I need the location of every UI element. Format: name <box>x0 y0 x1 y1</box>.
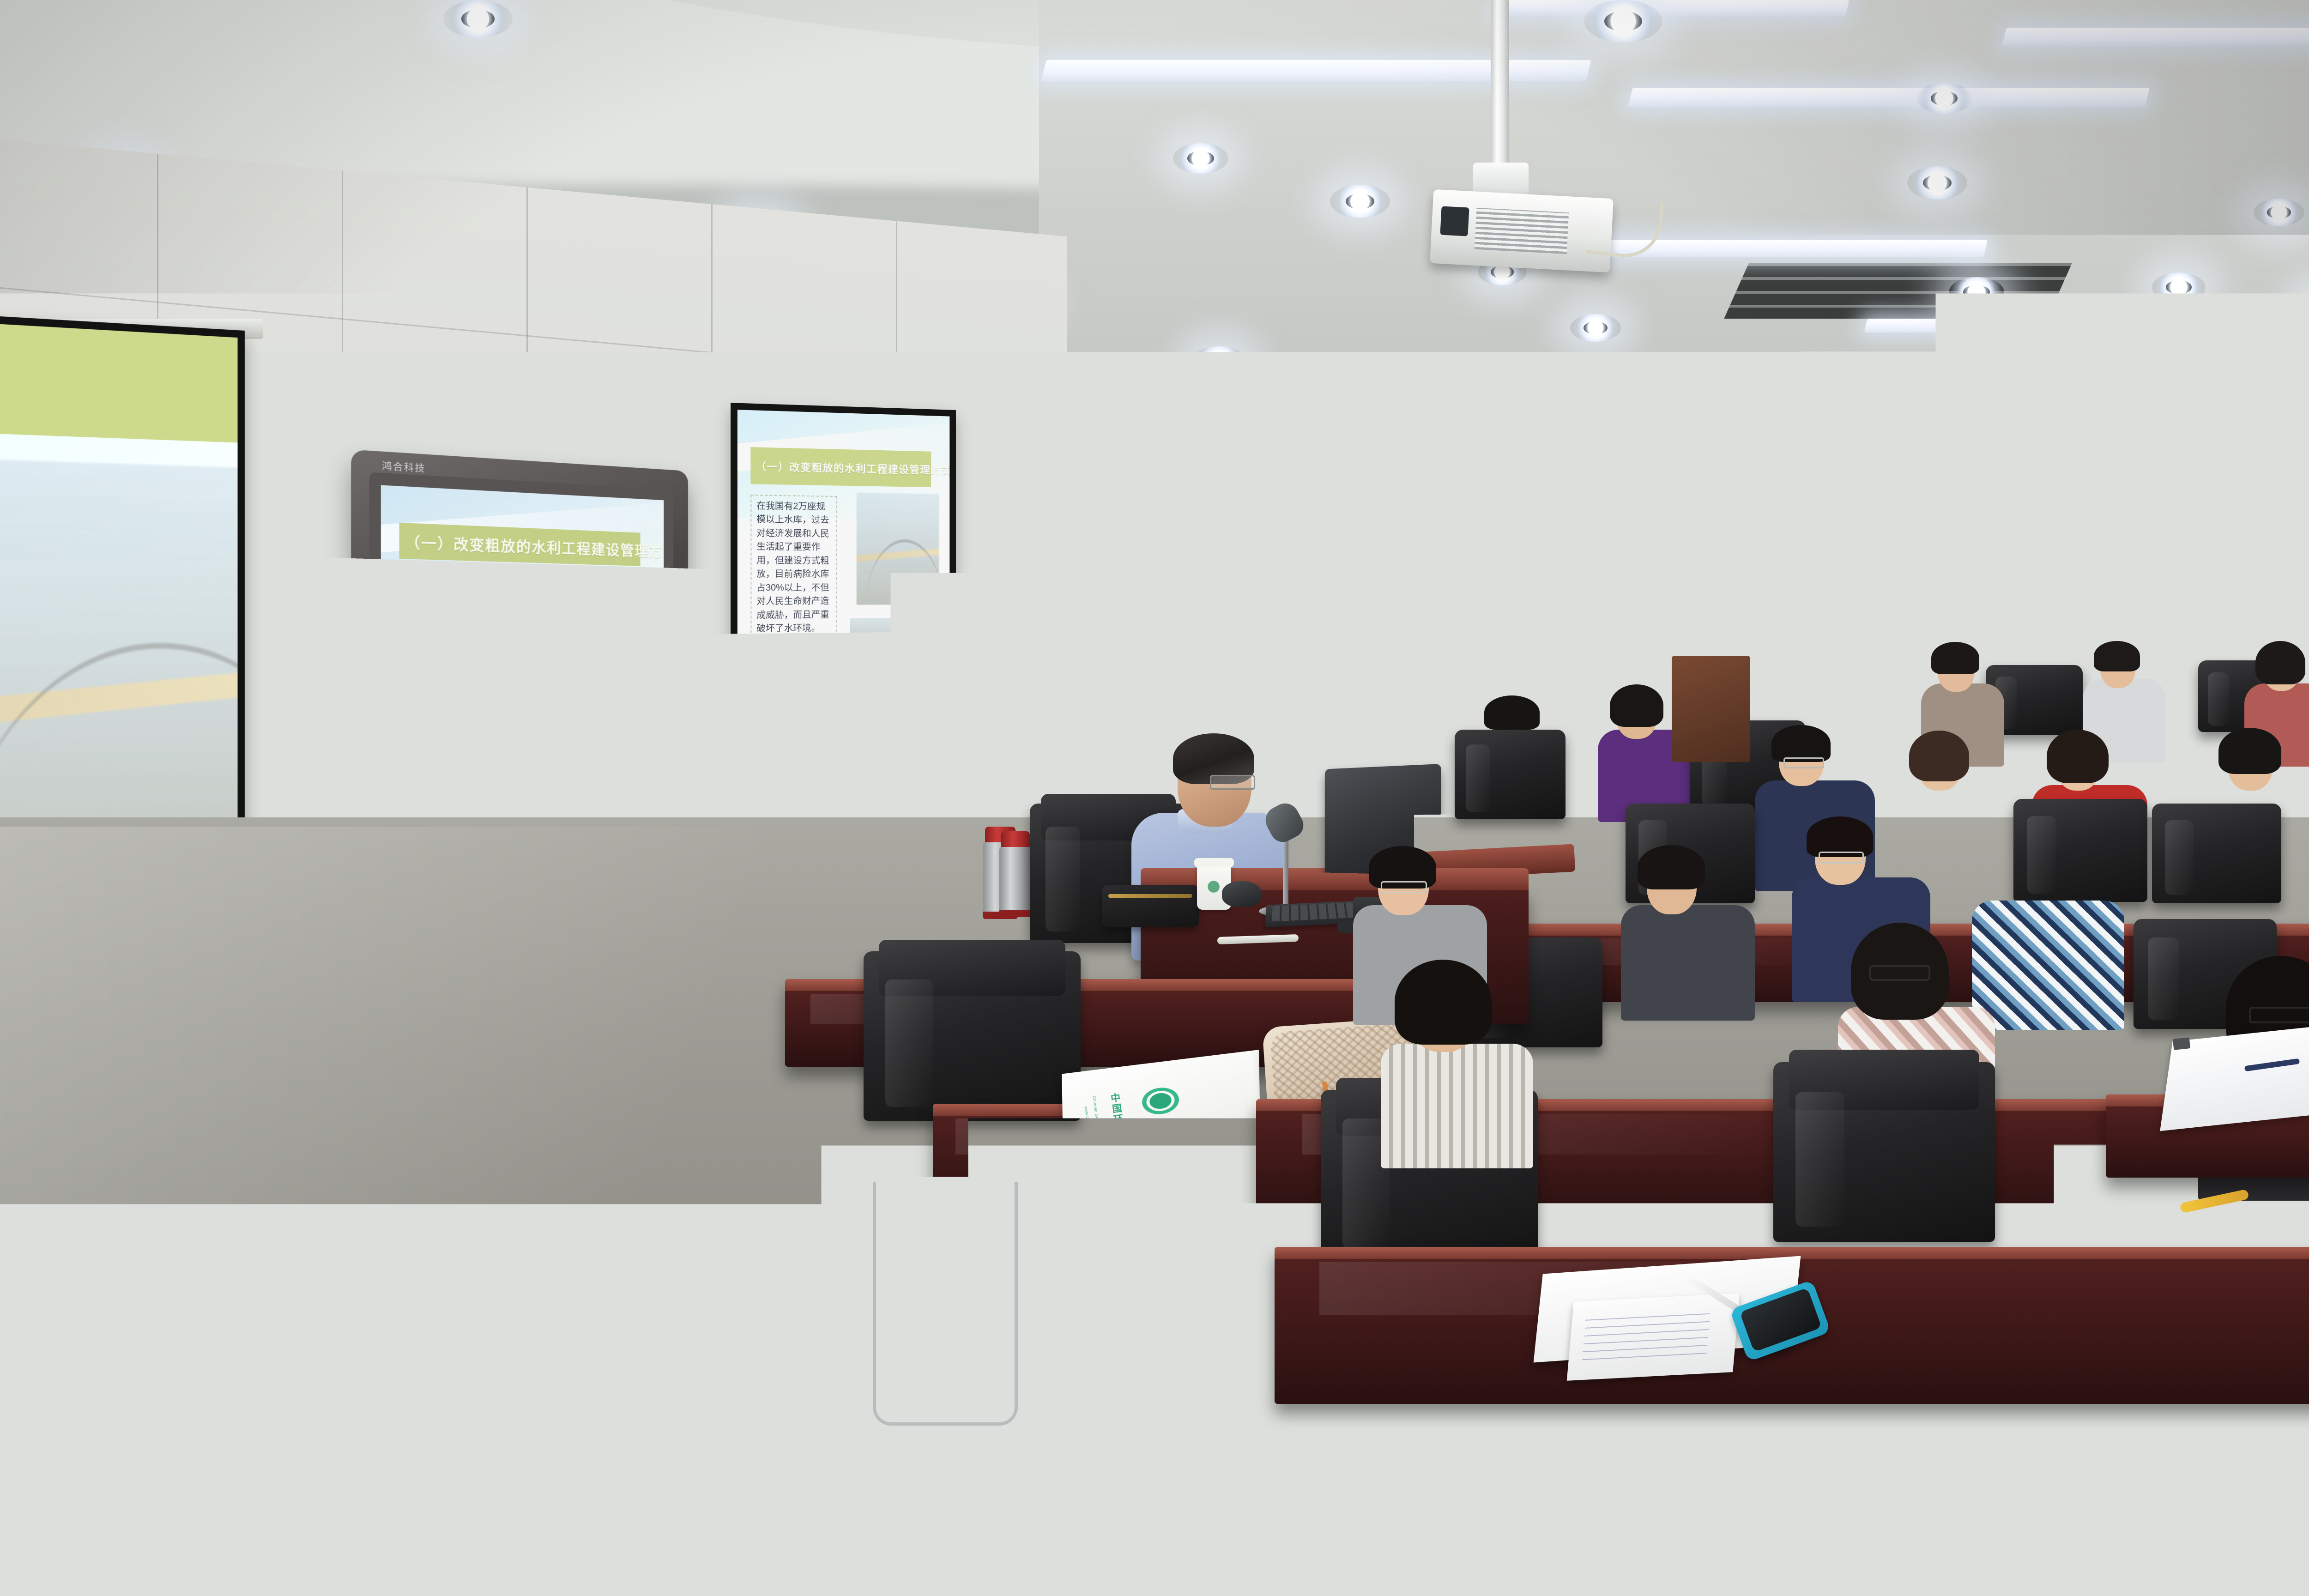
wall-projector-plate <box>485 366 560 433</box>
tote-bag-logo <box>1136 1082 1185 1120</box>
slide-paragraph: 第一，要除险； <box>756 656 831 671</box>
audience-hair <box>1798 640 1846 671</box>
slide-paragraph: 科学的工程管理： <box>405 766 512 788</box>
slide-photo-dam <box>534 689 659 804</box>
audience-hair <box>2218 728 2281 774</box>
projection-screen-right: （一）改变粗放的水利工程建设管理方式，修复水环境 在我国有2万座规模以上水库，过… <box>731 403 956 755</box>
audience-hair <box>1885 592 1926 621</box>
whiteboard-display[interactable]: （一）改变粗放的水利工程建设管理方式，修复水环境 在我国有2万座规模以上水库，过… <box>381 485 664 818</box>
audience-hair <box>1909 731 1969 781</box>
slide-photo-dam-gates <box>856 634 940 671</box>
chair-highlight <box>1795 1092 1844 1227</box>
eyeglasses-icon <box>2249 1007 2309 1023</box>
computer-mouse[interactable] <box>1222 881 1262 907</box>
window-blind-upper[interactable] <box>1808 360 2309 405</box>
projector-vents <box>1475 208 1569 254</box>
coffee-cup-lid <box>1194 858 1234 867</box>
audience-hair <box>2255 641 2305 684</box>
audience-hair <box>1807 816 1873 857</box>
recessed-downlight <box>1191 346 1247 377</box>
slide-photo-reservoir <box>543 570 651 677</box>
chair-highlight <box>1046 827 1080 931</box>
audience-hair <box>2094 641 2140 671</box>
thermos-flask[interactable] <box>999 831 1032 917</box>
slide-photo-dam-gates <box>542 704 651 740</box>
slide-paragraph: 第一，要除险； <box>405 789 512 813</box>
wooden-side-chair[interactable] <box>1672 656 1750 762</box>
thermos-body <box>999 847 1032 917</box>
eyeglasses-icon <box>1819 852 1864 864</box>
slide-body: 在我国有2万座规模以上水库，过去对经济发展和人民生活起了重要作用，但建设方式粗放… <box>399 569 518 791</box>
slide-photo-reservoir <box>856 493 939 605</box>
chair-highlight <box>885 979 933 1106</box>
foreground-person-striped <box>1381 1044 1533 1168</box>
slide-paragraph: 第二，要建立整治改善水库、修复断流的水环境工程。 <box>756 673 831 716</box>
bottom-left-chair[interactable] <box>1515 1422 1801 1596</box>
whiteboard-vendor-mark: 鸿合科技 <box>382 459 426 475</box>
foreground-hair <box>1395 960 1492 1045</box>
audience-hair <box>2054 577 2102 622</box>
whiteboard-bezel: （一）改变粗放的水利工程建设管理方式，修复水环境 在我国有2万座规模以上水库，过… <box>369 472 674 831</box>
slide-page-number: 20 <box>652 794 659 802</box>
slide-body: 在我国有2万座规模以上水库，过去对经济发展和人民生活起了重要作用，但建设方式粗放… <box>750 495 837 720</box>
ceiling-light-tube <box>1494 0 1850 17</box>
pencil-pouch[interactable] <box>1102 885 1199 927</box>
audience-hair <box>1484 695 1540 730</box>
eyeglasses-icon <box>1783 757 1824 768</box>
eyeglasses-icon <box>2004 873 2050 885</box>
recessed-downlight <box>1173 143 1228 174</box>
notebook-handwriting <box>1582 1308 1711 1360</box>
paper-binder-clip <box>2173 1037 2190 1050</box>
ceiling-light-tube <box>1628 88 2150 107</box>
tote-bag[interactable] <box>1062 1050 1261 1199</box>
slide-title: （一）改变粗放的水利工程建设管理方式，修复水环境 <box>750 458 949 478</box>
recessed-downlight <box>2254 199 2304 226</box>
ceiling-light-tube <box>1864 319 2190 332</box>
ceiling-flat-right <box>1039 0 2309 360</box>
slide-photo-dam-spillway <box>534 741 659 804</box>
projector-mount-pole <box>1491 0 1509 171</box>
recessed-downlight <box>1584 0 1662 42</box>
recessed-downlight <box>1949 277 2004 308</box>
slide-paragraph: 科学的工程管理： <box>756 639 831 653</box>
slide-paragraph: 在我国有2万座规模以上水库，过去对经济发展和人民生活起了重要作用，但建设方式粗放… <box>756 499 831 636</box>
audience-hair <box>1771 725 1831 762</box>
thermos-foot <box>999 910 1032 917</box>
foreground-hair <box>1638 845 1705 889</box>
eyeglasses-icon <box>1381 881 1427 893</box>
audience-hair <box>2047 730 2109 783</box>
projector-lens-icon <box>1440 206 1469 236</box>
recessed-downlight <box>1330 185 1390 218</box>
pouch-zipper <box>1108 894 1192 898</box>
chair-leg <box>873 1182 1018 1426</box>
foreground-person-dark-shirt <box>1621 905 1755 1021</box>
interactive-whiteboard[interactable]: 鸿合科技 HiteVision （一）改变粗放的水利工程建设管理方式，修复水环境… <box>351 449 688 862</box>
recessed-downlight <box>1916 83 1972 114</box>
presenter-eyeglasses-icon <box>1210 775 1255 790</box>
slide-right: （一）改变粗放的水利工程建设管理方式，修复水环境 在我国有2万座规模以上水库，过… <box>737 410 949 747</box>
slide-paragraph: 在我国有2万座规模以上水库，过去对经济发展和人民生活起了重要作用，但建设方式粗放… <box>405 574 512 764</box>
slide-whiteboard: （一）改变粗放的水利工程建设管理方式，修复水环境 在我国有2万座规模以上水库，过… <box>381 485 664 818</box>
audience-chair[interactable] <box>1455 730 1566 854</box>
chair-headrest <box>1535 1413 1781 1457</box>
slide-title: （一）改变粗放的水利工程建设管理方式，修复水环境 <box>399 530 664 564</box>
dome-speaker-icon <box>1293 418 1353 470</box>
coffee-cup-logo <box>1203 877 1224 897</box>
audience-hair <box>1967 586 2012 626</box>
recessed-downlight <box>443 0 513 38</box>
slide-photo-dam-spillway <box>850 674 945 738</box>
audience-hair <box>1931 642 1979 674</box>
slide-photo-dam <box>850 617 945 737</box>
slide-title-bar: （一）改变粗放的水利工程建设管理方式，修复水环境 <box>750 447 931 487</box>
slide-page-number: 20 <box>939 731 945 738</box>
audience-hair <box>1610 684 1663 727</box>
ceiling-light-tube <box>2002 28 2309 46</box>
recessed-downlight <box>1570 314 1621 342</box>
eyeglasses-icon <box>1869 965 1930 981</box>
recessed-downlight <box>2152 272 2206 302</box>
recessed-downlight <box>1907 166 1967 199</box>
ceiling-vent-right <box>1724 263 2072 319</box>
wall-projector-brand-label: HITACHI <box>674 408 708 435</box>
lecture-hall-photo: HITACHI （一）改变粗放的水利工程建设管理方式，修复水环境 在我国有2万座… <box>0 0 2309 1596</box>
audience-hair <box>2168 584 2216 629</box>
